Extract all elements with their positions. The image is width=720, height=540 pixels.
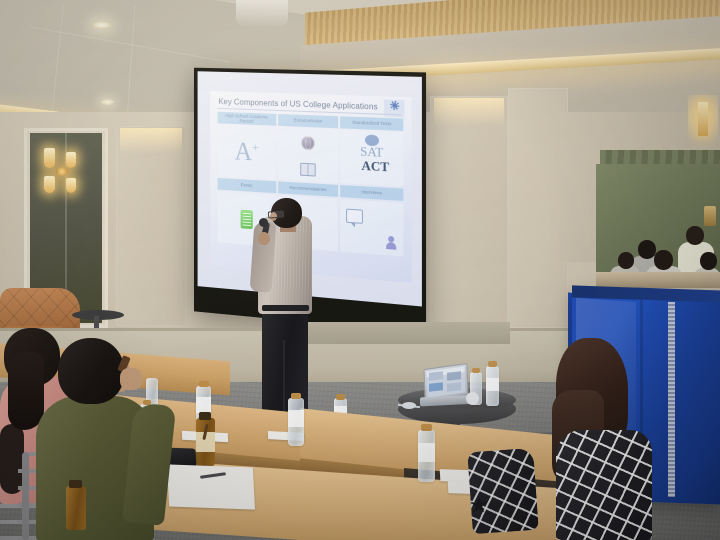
attendee-patterned-top <box>556 430 652 540</box>
handout-paper[interactable] <box>167 464 255 509</box>
person-icon <box>386 236 396 250</box>
bottle-cap <box>199 412 211 420</box>
slide-cell-academic-record: A+ <box>218 125 276 179</box>
organization-logo-icon <box>390 101 399 111</box>
eyeglasses-icon <box>268 210 284 218</box>
slide-cell-header: Essay <box>218 178 276 193</box>
a-plus-grade-icon: A+ <box>235 139 259 166</box>
slide-cell-header: High School Academic Record <box>218 112 276 126</box>
act-label: ACT <box>361 158 389 173</box>
audience-member-head <box>700 252 717 270</box>
wall-panel <box>508 88 568 328</box>
open-book-icon <box>300 163 315 177</box>
presenter-hand <box>258 232 270 245</box>
attendee-hair <box>8 352 44 430</box>
microphone-capsule <box>259 218 268 227</box>
attendee-head <box>58 338 124 404</box>
bottle-cap <box>472 368 480 373</box>
bottle-label <box>288 410 304 427</box>
audience-member-head <box>638 240 656 259</box>
bottle-label <box>196 397 211 413</box>
slide-cell-header: Recommendations <box>278 181 339 197</box>
cup <box>466 392 479 405</box>
presenter-belt <box>262 305 309 311</box>
laptop-slide-thumb <box>429 371 443 380</box>
wall-panel <box>116 126 186 326</box>
slide-cell-extracurricular <box>278 128 339 183</box>
pendant-lamp-icon <box>66 152 76 168</box>
mouse-icon[interactable] <box>402 402 416 409</box>
wall-panel <box>430 96 508 328</box>
brass-fixture-icon <box>56 167 68 176</box>
conference-room-photo: Key Components of US College Application… <box>0 0 720 540</box>
back-table <box>596 272 720 288</box>
bottle-cap <box>421 424 432 431</box>
bottle-label <box>418 443 435 462</box>
partition-zipper[interactable] <box>668 302 675 497</box>
audience-member-head <box>618 252 634 269</box>
slide-cell-header: Extracurricular <box>278 114 339 128</box>
pendant-lamp-icon <box>44 176 55 193</box>
bottle-label <box>486 378 499 391</box>
slide-cell-header: Interviews <box>340 185 403 201</box>
audience-member-head <box>654 250 673 270</box>
test-badge-icon <box>365 134 379 146</box>
basketball-icon <box>301 136 315 151</box>
pendant-lamp-icon <box>66 178 76 193</box>
table-lamp-icon <box>704 206 716 226</box>
amber-beverage-bottle <box>66 486 86 530</box>
recessed-downlight-icon <box>101 99 114 105</box>
bottle-cap <box>199 381 209 387</box>
laptop-slide-thumb <box>447 371 461 380</box>
wall-panel-glow <box>434 98 504 126</box>
patterned-tote-bag <box>467 448 539 534</box>
chair-post <box>22 452 29 540</box>
laptop-slide-thumb <box>429 382 443 391</box>
stage-step <box>300 322 510 344</box>
recessed-downlight-icon <box>92 21 111 29</box>
presenter-trouser-seam <box>283 340 285 422</box>
slide-cell-standardized-tests: SAT ACT <box>340 130 403 186</box>
pendant-lamp-icon <box>44 148 55 168</box>
sat-label: SAT <box>360 144 383 158</box>
speech-bubble-icon <box>346 209 363 224</box>
green-document-icon <box>240 209 252 229</box>
wall-panel-glow <box>120 128 182 154</box>
bottle-cap <box>336 394 345 400</box>
bottle-cap <box>291 393 301 399</box>
audience-member-head <box>686 226 704 245</box>
bottle-cap <box>69 480 82 488</box>
ceiling-projector-housing <box>236 0 288 26</box>
bottle-cap <box>488 361 497 367</box>
laptop-slide-thumb <box>447 382 461 391</box>
wall-sconce-icon <box>698 102 708 136</box>
attendee-hand <box>120 368 142 390</box>
test-name-group: SAT ACT <box>354 144 389 173</box>
slide-cell-interviews <box>340 199 403 256</box>
slide-cell-header: Standardized Tests <box>340 116 403 131</box>
